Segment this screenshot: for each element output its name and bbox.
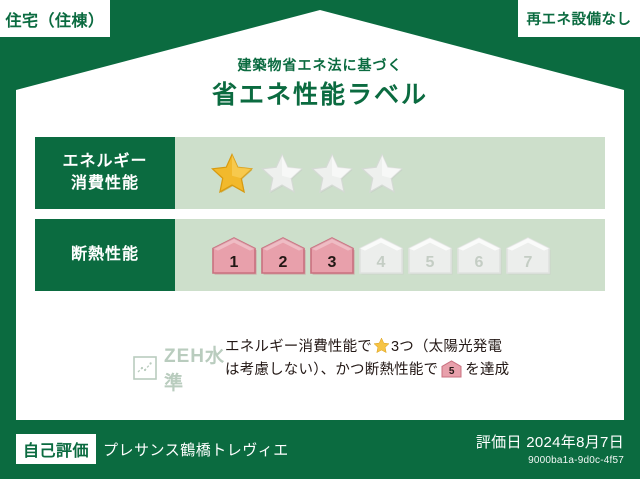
renewable-energy-tag: 再エネ設備なし <box>518 0 640 37</box>
energy-label-line1: エネルギー <box>62 151 147 173</box>
insulation-grade-6: 6 <box>455 235 503 275</box>
evaluation-date: 評価日 2024年8月7日 <box>476 431 624 452</box>
label-footer: 自己評価 プレサンス鶴橋トレヴィエ 評価日 2024年8月7日 9000ba1a… <box>0 420 640 479</box>
insulation-grade-value: 6 <box>455 255 503 271</box>
insulation-grade-list: 1234567 <box>210 235 552 275</box>
star-empty <box>260 152 304 194</box>
insulation-grade-value: 2 <box>259 255 307 271</box>
insulation-grade-4: 4 <box>357 235 405 275</box>
insulation-performance-label-cell: 断熱性能 <box>35 219 175 291</box>
star-empty <box>310 152 354 194</box>
zeh-description: エネルギー消費性能で3つ（太陽光発電 は考慮しない）、かつ断熱性能で5を達成 <box>225 333 509 383</box>
desc-line1-post: 3つ（太陽光発電 <box>391 339 502 355</box>
insulation-grade-2: 2 <box>259 235 307 275</box>
energy-performance-row: エネルギー 消費性能 <box>35 137 605 209</box>
insulation-performance-row: 断熱性能 1234567 <box>35 219 605 291</box>
star-empty <box>360 152 404 194</box>
zeh-section: ZEH水準 エネルギー消費性能で3つ（太陽光発電 は考慮しない）、かつ断熱性能で… <box>35 333 509 395</box>
energy-label-line2: 消費性能 <box>71 173 139 195</box>
building-name: プレサンス鶴橋トレヴィエ <box>103 439 289 460</box>
title-main: 省エネ性能ラベル <box>0 80 640 110</box>
star-filled <box>210 152 254 194</box>
inline-grade-value: 5 <box>441 367 462 377</box>
zeh-badge: ZEH水準 <box>35 333 225 395</box>
inline-grade-badge: 5 <box>441 360 462 378</box>
inline-star-icon <box>373 337 390 354</box>
title-subtitle: 建築物省エネ法に基づく <box>0 57 640 74</box>
rating-rows: エネルギー 消費性能 断熱性能 1234567 <box>35 137 605 301</box>
insulation-grade-value: 1 <box>210 255 258 271</box>
insulation-grade-7: 7 <box>504 235 552 275</box>
star-rating <box>175 137 605 209</box>
energy-performance-label-cell: エネルギー 消費性能 <box>35 137 175 209</box>
insulation-grade-value: 4 <box>357 255 405 271</box>
zeh-label: ZEH水準 <box>164 341 225 395</box>
insulation-grade-5: 5 <box>406 235 454 275</box>
insulation-grade-value: 3 <box>308 255 356 271</box>
insulation-grade-value: 5 <box>406 255 454 271</box>
desc-line2-post: を達成 <box>465 362 509 378</box>
desc-line1-pre: エネルギー消費性能で <box>225 339 372 355</box>
footer-right: 評価日 2024年8月7日 9000ba1a-9d0c-4f57 <box>476 431 624 466</box>
building-type-tag: 住宅（住棟） <box>0 0 110 37</box>
insulation-grade-value: 7 <box>504 255 552 271</box>
evaluation-id: 9000ba1a-9d0c-4f57 <box>476 455 624 466</box>
zeh-chart-icon <box>133 356 157 380</box>
insulation-grade-1: 1 <box>210 235 258 275</box>
label-title: 建築物省エネ法に基づく 省エネ性能ラベル <box>0 57 640 110</box>
energy-performance-label: 住宅（住棟） 再エネ設備なし 建築物省エネ法に基づく 省エネ性能ラベル エネルギ… <box>0 0 640 479</box>
insulation-label-line1: 断熱性能 <box>71 244 139 266</box>
insulation-grade-body: 1234567 <box>175 219 605 291</box>
desc-line2-pre: は考慮しない）、かつ断熱性能で <box>225 362 438 378</box>
footer-left: 自己評価 プレサンス鶴橋トレヴィエ <box>16 434 289 464</box>
insulation-grade-3: 3 <box>308 235 356 275</box>
self-evaluation-badge: 自己評価 <box>16 434 96 464</box>
